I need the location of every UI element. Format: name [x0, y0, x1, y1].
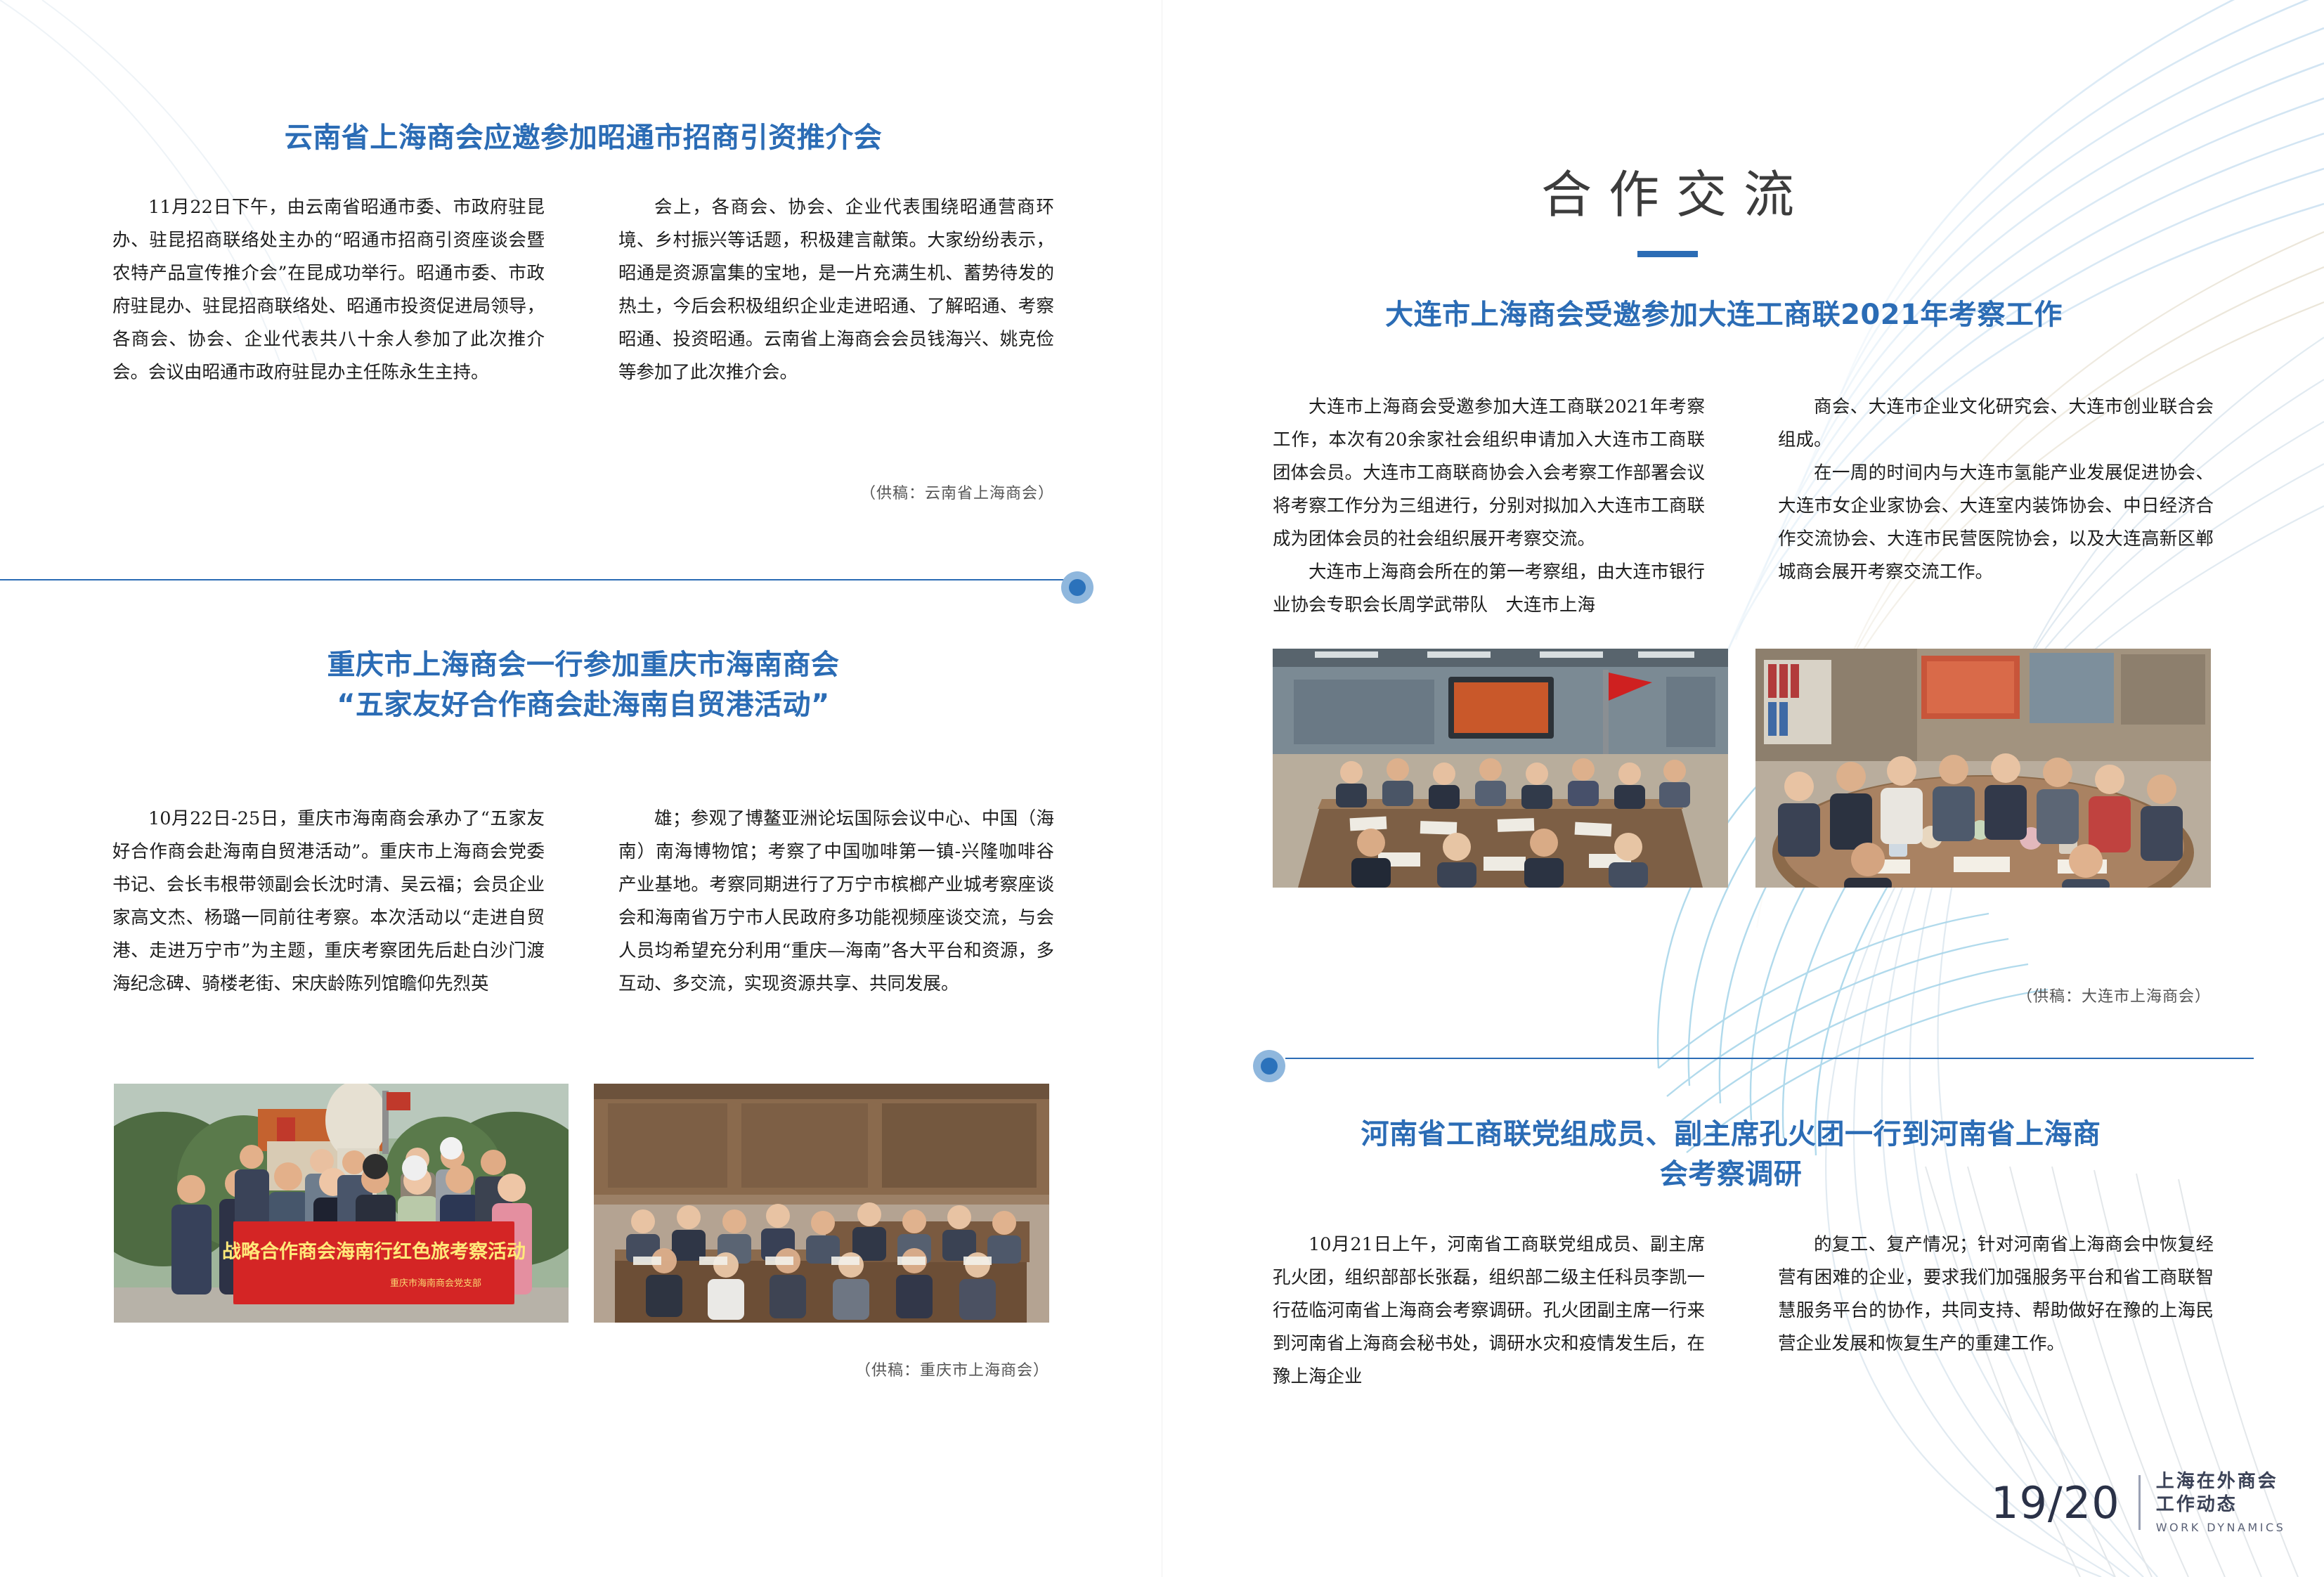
footer-brand-english: WORK DYNAMICS: [2156, 1521, 2286, 1535]
paragraph: 11月22日下午，由云南省昭通市委、市政府驻昆办、驻昆招商联络处主办的“昭通市招…: [112, 191, 545, 389]
article-dalian-col-1: 大连市上海商会受邀参加大连工商联2021年考察工作，本次有20余家社会组织申请加…: [1273, 391, 1705, 622]
article-title-line-1: 重庆市上海商会一行参加重庆市海南商会: [112, 645, 1054, 685]
article-title-line-2: “五家友好合作商会赴海南自贸港活动”: [112, 685, 1054, 725]
article-dalian-title: 大连市上海商会受邀参加大连工商联2021年考察工作: [1253, 295, 2195, 335]
article-dalian-credit: （供稿：大连市上海商会）: [1778, 984, 2211, 1006]
article-henan-col-2: 的复工、复产情况；针对河南省上海商会中恢复经营有困难的企业，要求我们加强服务平台…: [1778, 1228, 2214, 1361]
footer-separator: [2138, 1475, 2141, 1530]
paragraph: 雄；参观了博鳌亚洲论坛国际会议中心、中国（海南）南海博物馆；考察了中国咖啡第一镇…: [618, 803, 1054, 1001]
section-divider-1: [0, 571, 1096, 588]
paragraph: 大连市上海商会所在的第一考察组，由大连市银行业协会专职会长周学武带队 大连市上海: [1273, 556, 1705, 622]
paragraph: 10月21日上午，河南省工商联党组成员、副主席孔火团，组织部部长张磊，组织部二级…: [1273, 1228, 1705, 1394]
article-chongqing-col-2: 雄；参观了博鳌亚洲论坛国际会议中心、中国（海南）南海博物馆；考察了中国咖啡第一镇…: [618, 803, 1054, 1001]
meeting-room-photo: [594, 1084, 1049, 1323]
article-henan-title: 河南省工商联党组成员、副主席孔火团一行到河南省上海商 会考察调研: [1253, 1115, 2209, 1195]
svg-text:战略合作商会海南行红色旅考察活动: 战略合作商会海南行红色旅考察活动: [222, 1240, 526, 1263]
paragraph: 会上，各商会、协会、企业代表围绕昭通营商环境、乡村振兴等话题，积极建言献策。大家…: [618, 191, 1054, 389]
right-page: 合作交流 大连市上海商会受邀参加大连工商联2021年考察工作 大连市上海商会受邀…: [1162, 0, 2324, 1577]
article-henan-col-1: 10月21日上午，河南省工商联党组成员、副主席孔火团，组织部部长张磊，组织部二级…: [1273, 1228, 1705, 1394]
section-title-text: 合作交流: [1422, 153, 1914, 227]
article-chongqing-credit: （供稿：重庆市上海商会）: [618, 1358, 1049, 1380]
article-yunnan-credit: （供稿：云南省上海商会）: [618, 481, 1054, 503]
group-photo-red-banner: 战略合作商会海南行红色旅考察活动 重庆市海南商会党支部: [114, 1084, 569, 1323]
article-yunnan-col-1: 11月22日下午，由云南省昭通市委、市政府驻昆办、驻昆招商联络处主办的“昭通市招…: [112, 191, 545, 389]
conference-hall-photo: [1273, 649, 1728, 888]
paragraph: 的复工、复产情况；针对河南省上海商会中恢复经营有困难的企业，要求我们加强服务平台…: [1778, 1228, 2214, 1361]
article-title-text: 云南省上海商会应邀参加昭通市招商引资推介会: [112, 118, 1054, 158]
footer-brand-line-1: 上海在外商会: [2156, 1470, 2286, 1493]
paragraph: 10月22日-25日，重庆市海南商会承办了“五家友好合作商会赴海南自贸港活动”。…: [112, 803, 545, 1001]
article-chongqing-title: 重庆市上海商会一行参加重庆市海南商会 “五家友好合作商会赴海南自贸港活动”: [112, 645, 1054, 725]
page-number: 19/20: [1991, 1477, 2120, 1529]
article-yunnan-col-2: 会上，各商会、协会、企业代表围绕昭通营商环境、乡村振兴等话题，积极建言献策。大家…: [618, 191, 1054, 389]
section-rule: [1637, 251, 1698, 257]
roundtable-discussion-photo: [1755, 649, 2211, 888]
paragraph: 在一周的时间内与大连市氢能产业发展促进协会、大连市女企业家协会、大连室内装饰协会…: [1778, 457, 2214, 589]
article-yunnan-title: 云南省上海商会应邀参加昭通市招商引资推介会: [112, 118, 1054, 158]
divider-node-icon: [1253, 1050, 1285, 1082]
article-dalian-col-2: 商会、大连市企业文化研究会、大连市创业联合会组成。 在一周的时间内与大连市氢能产…: [1778, 391, 2214, 589]
article-title-line-2: 会考察调研: [1253, 1155, 2209, 1195]
section-banner: 合作交流: [1422, 153, 1914, 257]
divider-node-icon: [1061, 571, 1093, 604]
article-chongqing-col-1: 10月22日-25日，重庆市海南商会承办了“五家友好合作商会赴海南自贸港活动”。…: [112, 803, 545, 1001]
footer-brand: 上海在外商会 工作动态 WORK DYNAMICS: [2156, 1470, 2286, 1535]
svg-text:重庆市海南商会党支部: 重庆市海南商会党支部: [390, 1278, 481, 1289]
paragraph: 商会、大连市企业文化研究会、大连市创业联合会组成。: [1778, 391, 2214, 457]
paragraph: 大连市上海商会受邀参加大连工商联2021年考察工作，本次有20余家社会组织申请加…: [1273, 391, 1705, 556]
section-divider-2: [1253, 1050, 2251, 1067]
left-page: 云南省上海商会应邀参加昭通市招商引资推介会 11月22日下午，由云南省昭通市委、…: [0, 0, 1162, 1577]
footer-brand-line-2: 工作动态: [2156, 1493, 2286, 1517]
page-footer: 19/20 上海在外商会 工作动态 WORK DYNAMICS: [1991, 1470, 2285, 1535]
article-title-line-1: 河南省工商联党组成员、副主席孔火团一行到河南省上海商: [1253, 1115, 2209, 1155]
article-title-text: 大连市上海商会受邀参加大连工商联2021年考察工作: [1253, 295, 2195, 335]
magazine-spread: 云南省上海商会应邀参加昭通市招商引资推介会 11月22日下午，由云南省昭通市委、…: [0, 0, 2324, 1577]
